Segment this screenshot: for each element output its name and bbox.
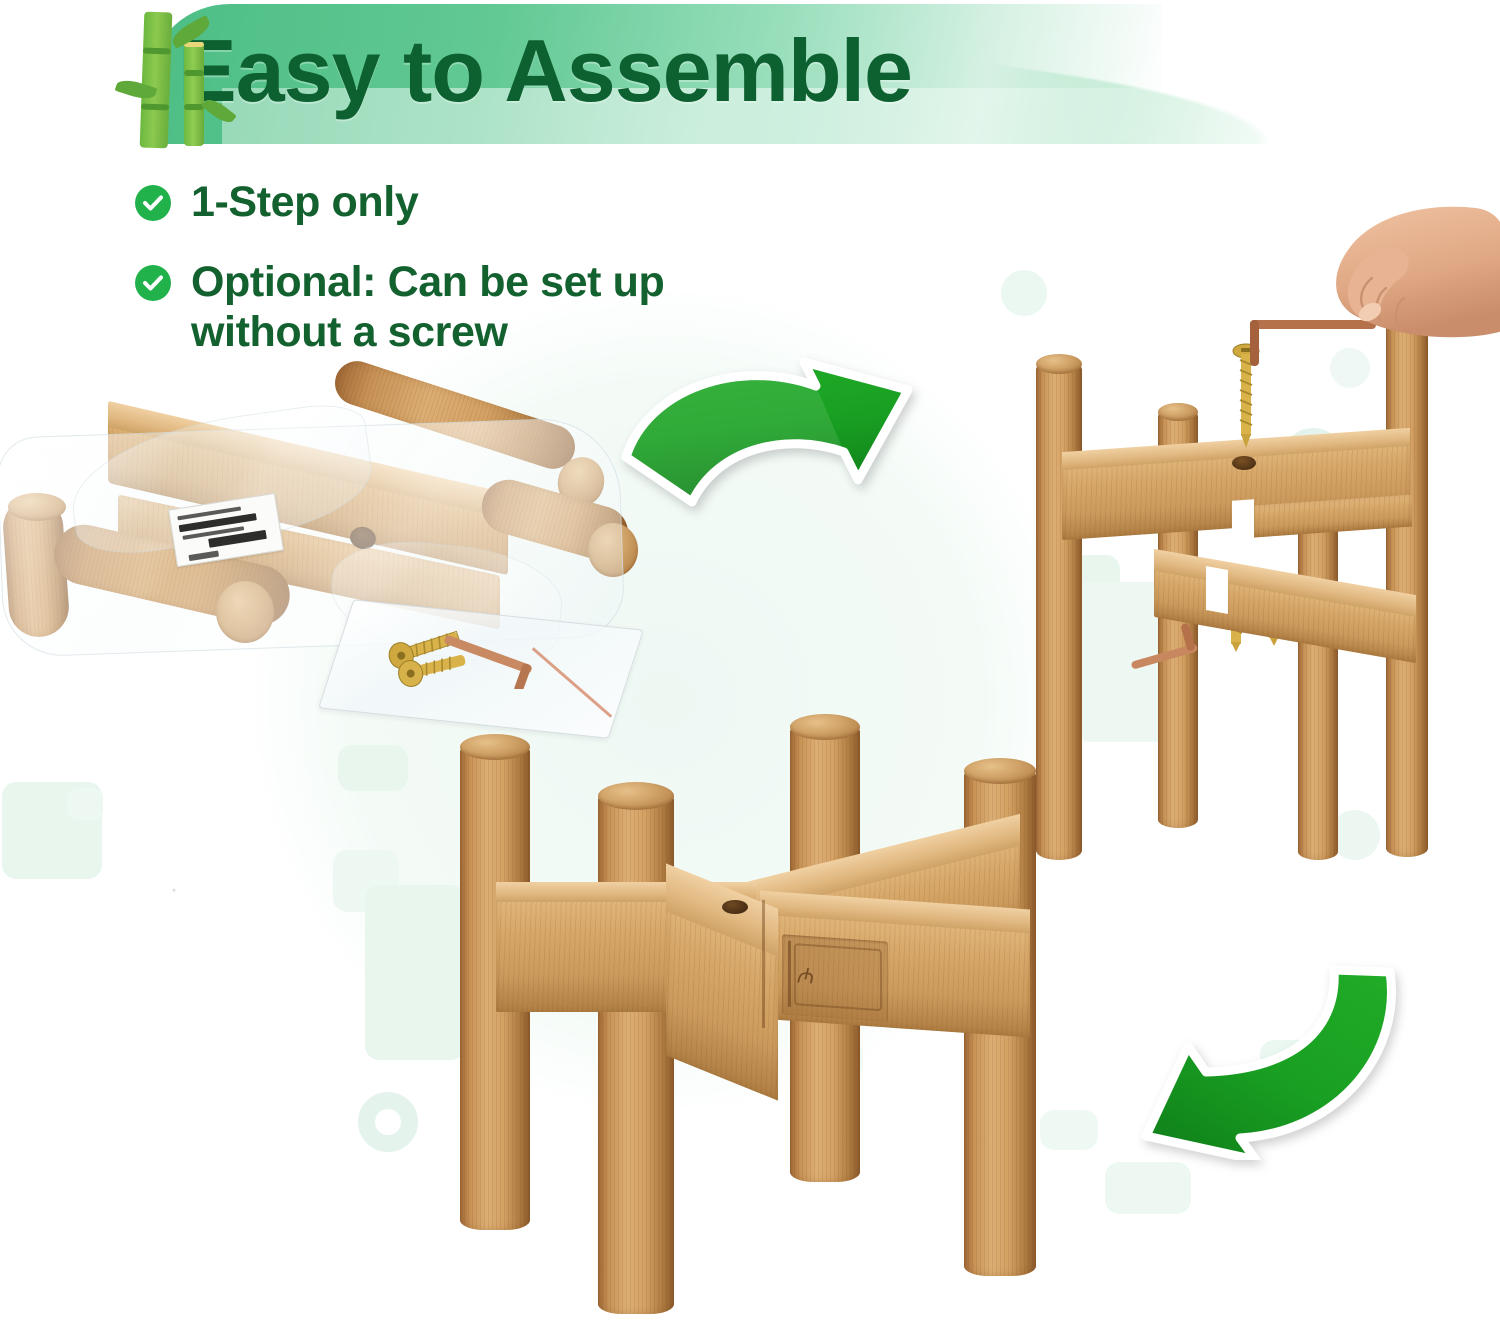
bamboo-stalk-tall [140,12,173,149]
check-circle-icon [135,265,171,301]
engraving-flag-body [794,943,882,1011]
leg-end-cap [964,758,1036,784]
leg-end-cap [790,714,860,740]
bamboo-segment [143,48,171,55]
leg-end-cap [598,782,674,810]
feature-item-2: Optional: Can be set up without a screw [135,258,875,358]
leg-end-cap [1036,354,1082,374]
bamboo-stalks-icon [118,8,238,148]
stand-leg [598,790,674,1314]
background-square [67,788,103,820]
leg-end-cap [1158,403,1198,421]
screw-hole [722,900,748,914]
beam-notch [1206,566,1228,614]
bamboo-leaf [201,95,236,127]
assembled-plant-stand: ₼ [430,700,1050,1320]
background-square [2,782,102,879]
bamboo-segment [184,70,204,76]
bamboo-stalk-short [184,42,204,146]
bamboo-segment [141,103,169,110]
infographic-canvas: Easy to Assemble 1-Step only [0,0,1500,1325]
brand-engraving: ₼ [782,934,888,1021]
feature-item-1: 1-Step only [135,178,755,228]
background-square [338,745,408,791]
joint-seam [762,900,765,1028]
assembly-step-with-hand [1000,200,1500,900]
hand-holding-allen-key [1300,200,1500,360]
check-circle-icon [135,185,171,221]
background-ring [358,1092,418,1152]
stand-leg [1386,312,1428,857]
curved-arrow-down-left-icon [1090,960,1410,1160]
feature-item-label: Optional: Can be set up without a screw [191,258,664,358]
packaged-plant-stand [0,385,650,735]
leg-end-cap [460,734,530,760]
screw-hole [1232,456,1256,470]
desiccant-label [173,889,175,891]
allen-key [430,633,550,689]
curved-arrow-down-right-icon [608,352,938,552]
allen-key [1122,620,1208,676]
feature-item-label: 1-Step only [191,178,418,228]
engraving-flag-pole [788,941,791,1007]
background-square [333,850,399,912]
beam-notch [1232,499,1254,547]
page-title: Easy to Assemble [178,20,912,122]
label-line [188,550,219,561]
background-square [1105,1162,1191,1214]
